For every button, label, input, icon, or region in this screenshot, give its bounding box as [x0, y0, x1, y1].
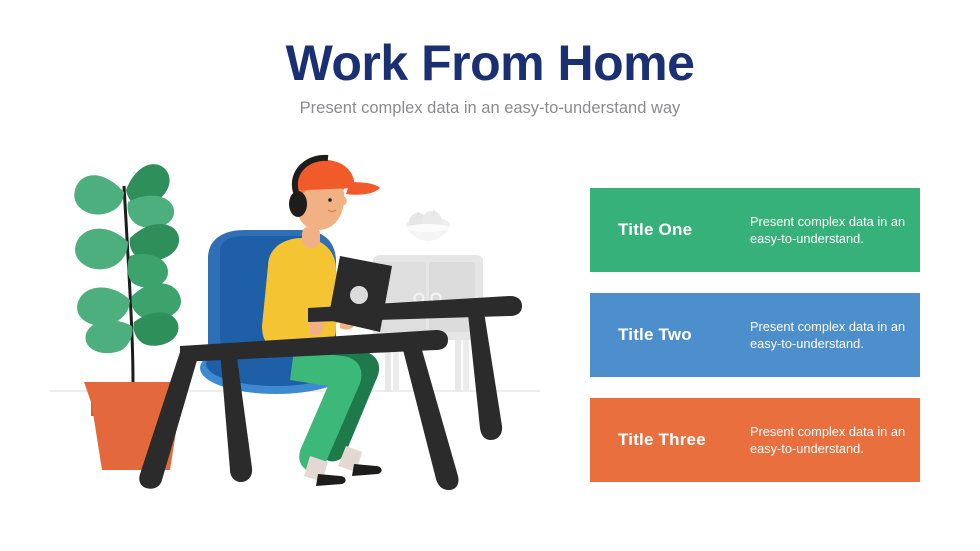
leaf — [133, 312, 178, 345]
leaf — [128, 196, 175, 228]
card-title-three-description: Present complex data in an easy-to-under… — [750, 423, 920, 458]
leaf — [77, 287, 130, 325]
card-title-two[interactable]: Title Two Present complex data in an eas… — [590, 293, 920, 377]
card-title-one-label: Title One — [590, 220, 750, 240]
card-title-three[interactable]: Title Three Present complex data in an e… — [590, 398, 920, 482]
slide-header: Work From Home Present complex data in a… — [0, 34, 980, 119]
sock-shoe-back — [338, 446, 382, 476]
leaf — [74, 175, 124, 214]
head — [289, 158, 380, 230]
page-subtitle: Present complex data in an easy-to-under… — [0, 97, 980, 119]
card-title-one-description: Present complex data in an easy-to-under… — [750, 213, 920, 248]
person — [262, 158, 392, 486]
leaf — [86, 320, 133, 353]
card-title-two-label: Title Two — [590, 325, 750, 345]
card-title-one[interactable]: Title One Present complex data in an eas… — [590, 188, 920, 272]
content-cards-list: Title One Present complex data in an eas… — [590, 188, 920, 482]
card-title-three-label: Title Three — [590, 430, 750, 450]
leaf — [75, 229, 128, 270]
leaf — [127, 254, 168, 288]
work-from-home-illustration — [40, 150, 560, 510]
page-title: Work From Home — [0, 34, 980, 92]
laptop-logo — [350, 286, 368, 304]
fruit-bowl — [406, 210, 450, 241]
card-title-two-description: Present complex data in an easy-to-under… — [750, 318, 920, 353]
